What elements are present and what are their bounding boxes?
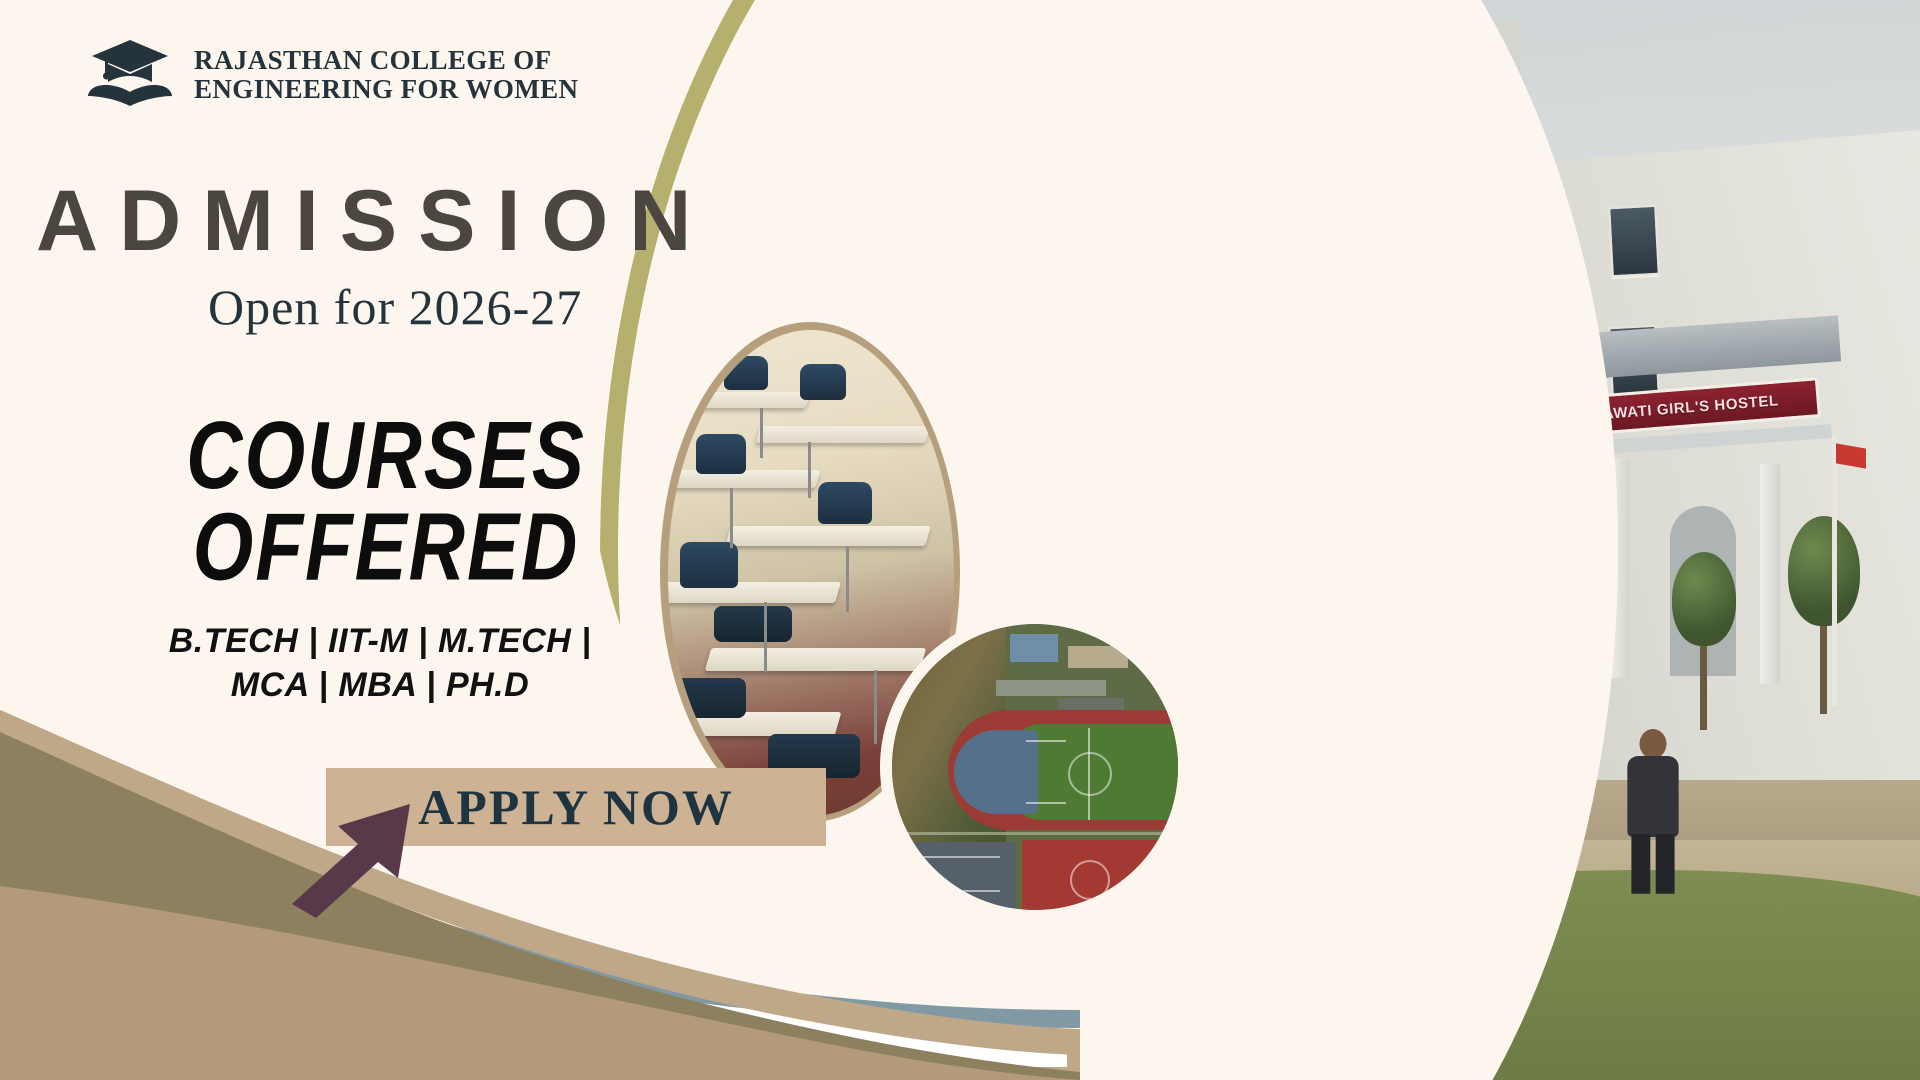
sports-ground-aerial-photo (892, 624, 1178, 910)
page-subtitle: Open for 2026-27 (208, 278, 582, 336)
person-figure (1622, 729, 1684, 891)
left-content-panel: RAJASTHAN COLLEGE OF ENGINEERING FOR WOM… (0, 0, 860, 1080)
courses-list-line1: B.TECH | IIT-M | M.TECH | (120, 620, 640, 664)
courses-heading: COURSES OFFERED (176, 410, 596, 593)
graduation-cap-book-icon (88, 38, 172, 112)
arrow-up-right-icon (286, 800, 416, 920)
courses-list: B.TECH | IIT-M | M.TECH | MCA | MBA | PH… (120, 620, 640, 707)
college-name-line2: ENGINEERING FOR WOMEN (194, 75, 578, 104)
courses-heading-line1: COURSES (176, 410, 596, 501)
brand-lockup: RAJASTHAN COLLEGE OF ENGINEERING FOR WOM… (88, 38, 578, 112)
apply-now-label: APPLY NOW (418, 778, 734, 836)
courses-list-line2: MCA | MBA | PH.D (120, 664, 640, 708)
admission-banner: AMMA CHANDRAWATI GIRL'S HOSTEL (0, 0, 1920, 1080)
courses-heading-line2: OFFERED (176, 501, 596, 592)
college-name: RAJASTHAN COLLEGE OF ENGINEERING FOR WOM… (194, 46, 578, 104)
page-title: ADMISSION (36, 172, 712, 271)
college-name-line1: RAJASTHAN COLLEGE OF (194, 46, 578, 75)
